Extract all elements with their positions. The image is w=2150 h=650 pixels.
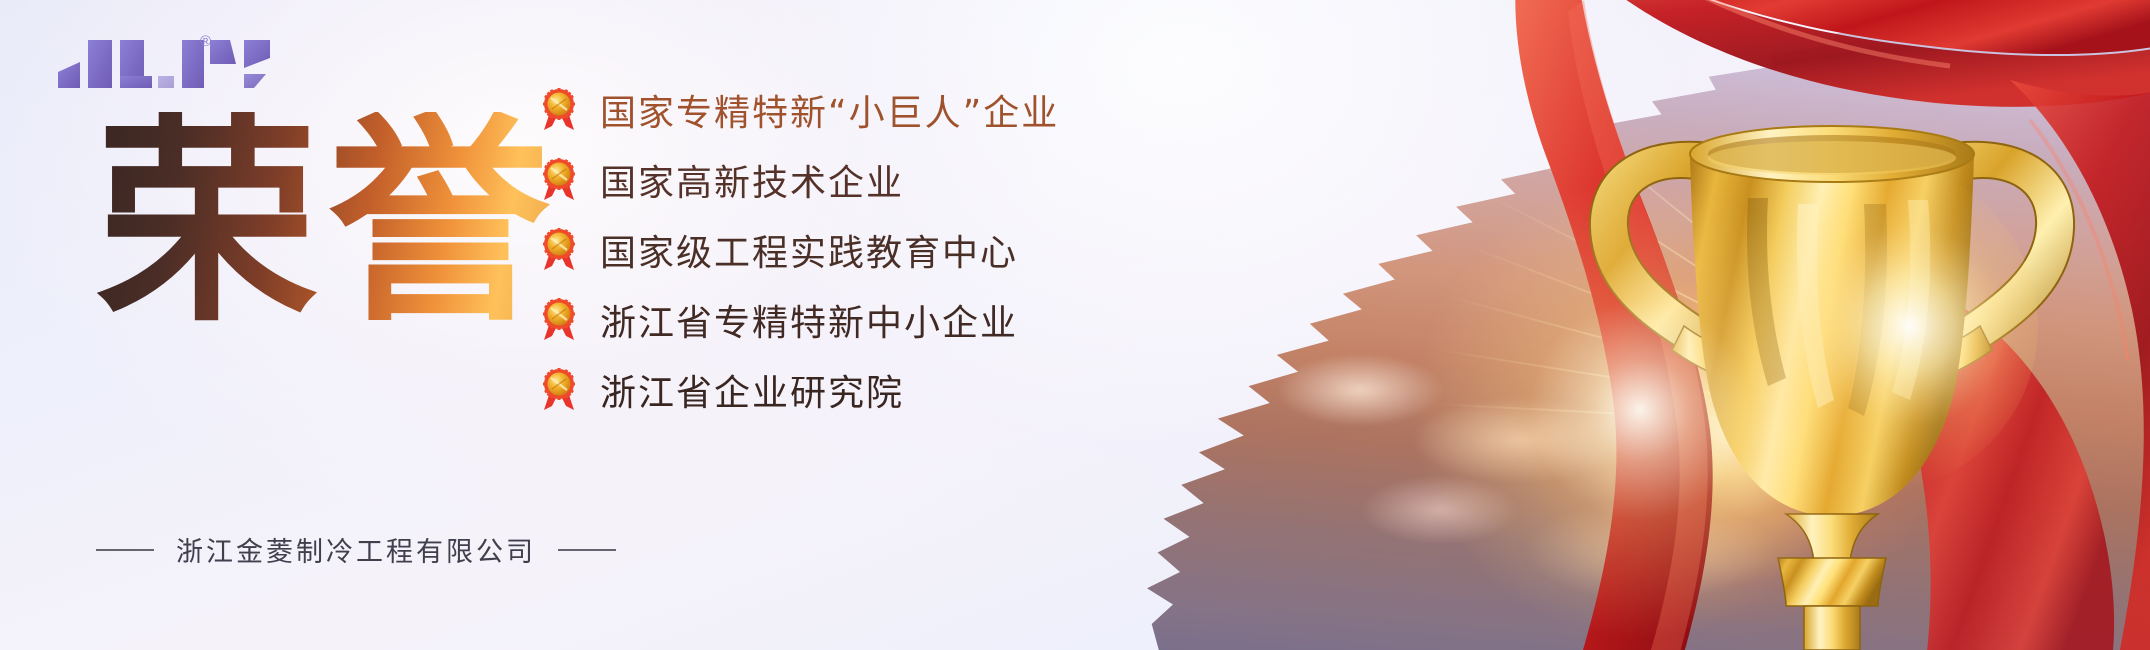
light-ray bbox=[1447, 295, 1950, 432]
rule-right bbox=[558, 549, 616, 551]
red-silk-drape bbox=[1370, 0, 2150, 650]
medal-rosette-icon bbox=[540, 228, 578, 272]
honor-banner: ® 荣誉 bbox=[0, 0, 2150, 650]
light-ray bbox=[1431, 403, 1950, 432]
medal-rosette-icon bbox=[540, 88, 578, 132]
list-item: 国家级工程实践教育中心 bbox=[540, 224, 1059, 276]
artwork-region bbox=[970, 0, 2150, 650]
medal-rosette-icon bbox=[540, 298, 578, 342]
honor-list: 国家专精特新“小巨人”企业 国家高新技术企 bbox=[540, 84, 1059, 416]
page-title: 荣誉 bbox=[96, 112, 560, 334]
light-ray bbox=[1545, 103, 1950, 432]
list-item: 浙江省企业研究院 bbox=[540, 364, 1059, 416]
list-item: 国家专精特新“小巨人”企业 bbox=[540, 84, 1059, 136]
light-ray bbox=[1436, 349, 1950, 432]
honor-label: 国家高新技术企业 bbox=[600, 154, 904, 206]
list-item: 国家高新技术企业 bbox=[540, 154, 1059, 206]
medal-rosette-icon bbox=[540, 368, 578, 412]
honor-label: 国家专精特新“小巨人”企业 bbox=[600, 84, 1059, 136]
sunset-mountain-photo bbox=[970, 0, 2150, 650]
honor-label: 浙江省企业研究院 bbox=[600, 364, 904, 416]
honor-label: 浙江省专精特新中小企业 bbox=[600, 294, 1018, 346]
medal-rosette-icon bbox=[540, 158, 578, 202]
sun-glare bbox=[1380, 150, 1900, 650]
jinling-logo[interactable] bbox=[58, 30, 288, 88]
cloud-bank bbox=[1270, 300, 1830, 650]
gold-trophy-icon bbox=[1572, 34, 2092, 650]
rule-left bbox=[96, 549, 154, 551]
registered-mark: ® bbox=[200, 33, 211, 50]
company-name: 浙江金菱制冷工程有限公司 bbox=[176, 530, 536, 569]
light-ray bbox=[1486, 194, 1950, 432]
company-signature: 浙江金菱制冷工程有限公司 bbox=[96, 530, 616, 569]
light-ray bbox=[1513, 147, 1950, 432]
honor-label: 国家级工程实践教育中心 bbox=[600, 224, 1018, 276]
light-ray bbox=[1464, 244, 1950, 432]
list-item: 浙江省专精特新中小企业 bbox=[540, 294, 1059, 346]
